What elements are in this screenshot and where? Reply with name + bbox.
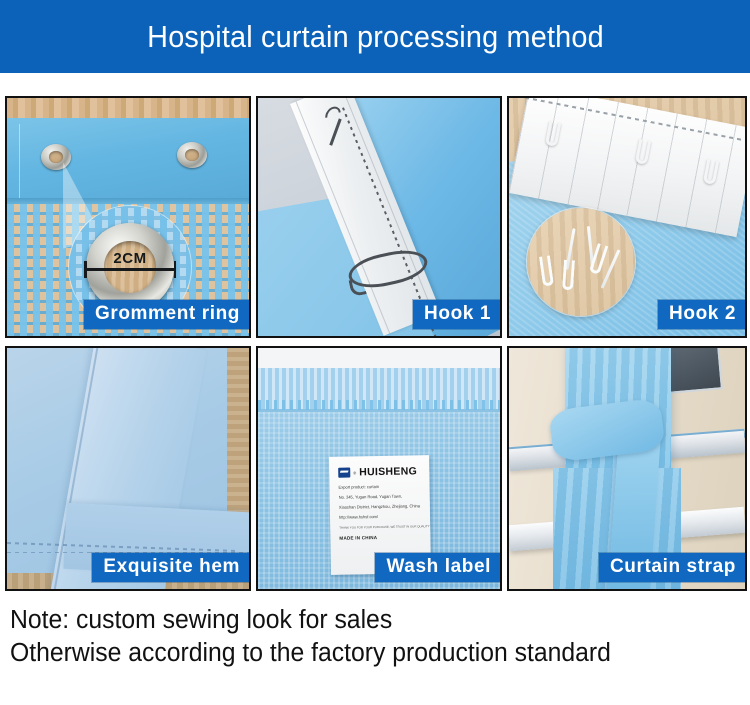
label-line: No. 345, Yugan Road, Yugan Town, bbox=[339, 494, 420, 500]
panel-caption-grommet-ring: Gromment ring bbox=[84, 300, 249, 329]
registered-mark: ® bbox=[353, 470, 356, 475]
label-made-in: MADE IN CHINA bbox=[339, 534, 423, 540]
panel-hook-2: Hook 2 bbox=[507, 96, 747, 338]
dimension-cap-right bbox=[174, 261, 177, 278]
panel-grommet-ring: 2CM Gromment ring bbox=[5, 96, 251, 338]
product-info-graphic: Hospital curtain processing method bbox=[0, 0, 750, 705]
wood-background bbox=[7, 98, 249, 120]
note-line-1: Note: custom sewing look for sales bbox=[10, 604, 723, 637]
note-line-2: Otherwise according to the factory produ… bbox=[10, 637, 723, 670]
panel-hook-1: Hook 1 bbox=[256, 96, 502, 338]
panel-wash-label: ® HUISHENG Export product: curtain No. 3… bbox=[256, 346, 502, 591]
hook-closeup bbox=[539, 255, 554, 286]
panel-caption-curtain-strap: Curtain strap bbox=[599, 553, 745, 582]
page-title: Hospital curtain processing method bbox=[147, 19, 604, 55]
ruffled-header bbox=[258, 368, 500, 412]
panel-grid: 2CM Gromment ring Hook 1 bbox=[5, 96, 745, 593]
label-line: http://www.hshsf.com/ bbox=[339, 514, 420, 520]
label-fine-print: THANK YOU FOR YOUR PURCHASE, WE TRUST IN… bbox=[339, 524, 423, 529]
dimension-bar bbox=[84, 268, 176, 271]
dimension-line: 2CM bbox=[84, 253, 176, 281]
brand-name: HUISHENG bbox=[359, 465, 417, 478]
dimension-label: 2CM bbox=[113, 250, 146, 267]
grommet-eyelet bbox=[177, 142, 207, 168]
header-banner: Hospital curtain processing method bbox=[0, 0, 750, 73]
panel-caption-hook-1: Hook 1 bbox=[413, 300, 500, 329]
panel-curtain-strap: Curtain strap bbox=[507, 346, 747, 591]
panel-caption-hook-2: Hook 2 bbox=[658, 300, 745, 329]
notes-block: Note: custom sewing look for sales Other… bbox=[10, 604, 745, 669]
zoom-inset-circle bbox=[527, 208, 635, 316]
label-line: Export product: curtain bbox=[338, 484, 419, 490]
hook-closeup bbox=[562, 260, 575, 291]
panel-caption-exquisite-hem: Exquisite hem bbox=[92, 553, 249, 582]
dimension-cap-left bbox=[84, 261, 87, 278]
label-brand-row: ® HUISHENG bbox=[338, 465, 422, 478]
brand-logo-icon bbox=[338, 468, 350, 478]
label-line: Xiaoshan District, Hangzhou, Zhejiang, C… bbox=[339, 504, 420, 510]
panel-caption-wash-label: Wash label bbox=[375, 553, 500, 582]
panel-exquisite-hem: Exquisite hem bbox=[5, 346, 251, 591]
